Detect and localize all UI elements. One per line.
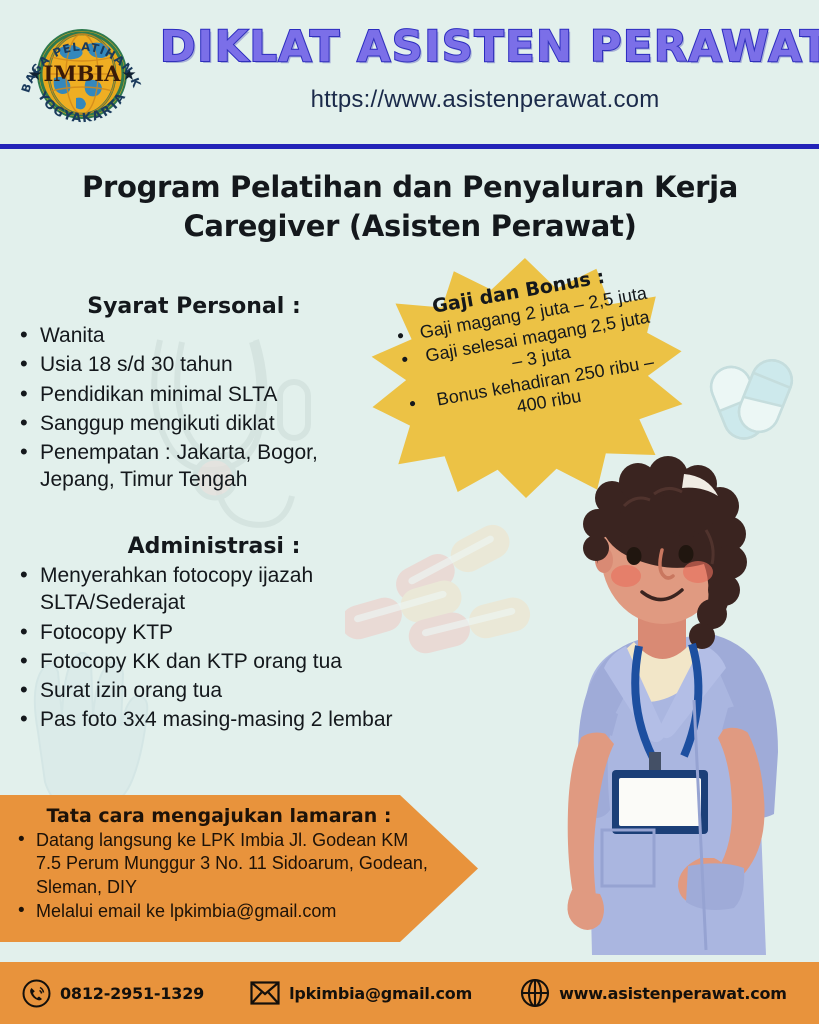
list-item: Pendidikan minimal SLTA [14,381,374,408]
footer-email[interactable]: lpkimbia@gmail.com [250,980,472,1006]
page-title: Program Pelatihan dan Penyaluran Kerja C… [40,168,780,246]
brand-title: DIKLAT ASISTEN PERAWAT [160,22,810,72]
footer-email-text: lpkimbia@gmail.com [289,984,472,1003]
footer-phone-text: 0812-2951-1329 [60,984,204,1003]
imbia-logo: IMBIA ★ ★ LEMBAGA PELATIHAN KERJA YOGYAK… [12,6,152,142]
nurse-illustration [506,450,819,955]
apply-instructions-banner: Tata cara mengajukan lamaran : Datang la… [0,795,478,942]
syarat-heading: Syarat Personal : [14,294,374,319]
list-item: Usia 18 s/d 30 tahun [14,351,374,378]
list-item: Fotocopy KK dan KTP orang tua [14,648,414,675]
administrasi-list: Menyerahkan fotocopy ijazah SLTA/Sederaj… [14,562,414,734]
syarat-personal-section: Syarat Personal : Wanita Usia 18 s/d 30 … [14,294,374,496]
list-item: Menyerahkan fotocopy ijazah SLTA/Sederaj… [14,562,414,617]
envelope-icon [250,980,280,1006]
syarat-list: Wanita Usia 18 s/d 30 tahun Pendidikan m… [14,322,374,494]
apply-list: Datang langsung ke LPK Imbia Jl. Godean … [14,829,464,924]
list-item: Wanita [14,322,374,349]
list-item: Sanggup mengikuti diklat [14,410,374,437]
list-item: Datang langsung ke LPK Imbia Jl. Godean … [14,829,434,899]
apply-heading: Tata cara mengajukan lamaran : [14,805,464,827]
logo-center-text: IMBIA [44,61,122,86]
list-item: Penempatan : Jakarta, Bogor, Jepang, Tim… [14,439,374,494]
blue-capsules-icon [695,345,810,460]
list-item: Fotocopy KTP [14,619,414,646]
footer-website-text: www.asistenperawat.com [559,984,787,1003]
footer-contact-bar: 0812-2951-1329 lpkimbia@gmail.com www.as… [0,962,819,1024]
page-title-line2: Caregiver (Asisten Perawat) [40,207,780,246]
poster-root: IMBIA ★ ★ LEMBAGA PELATIHAN KERJA YOGYAK… [0,0,819,1024]
page-title-line1: Program Pelatihan dan Penyaluran Kerja [40,168,780,207]
administrasi-heading: Administrasi : [14,534,414,559]
brand-url[interactable]: https://www.asistenperawat.com [160,86,810,114]
header-bar: IMBIA ★ ★ LEMBAGA PELATIHAN KERJA YOGYAK… [0,0,819,146]
list-item: Melalui email ke lpkimbia@gmail.com [14,900,434,923]
footer-website[interactable]: www.asistenperawat.com [520,978,787,1008]
list-item: Surat izin orang tua [14,677,414,704]
administrasi-section: Administrasi : Menyerahkan fotocopy ijaz… [14,534,414,736]
footer-phone[interactable]: 0812-2951-1329 [22,979,204,1008]
globe-icon [520,978,550,1008]
header-divider [0,144,819,149]
phone-icon [22,979,51,1008]
list-item: Pas foto 3x4 masing-masing 2 lembar [14,706,414,733]
